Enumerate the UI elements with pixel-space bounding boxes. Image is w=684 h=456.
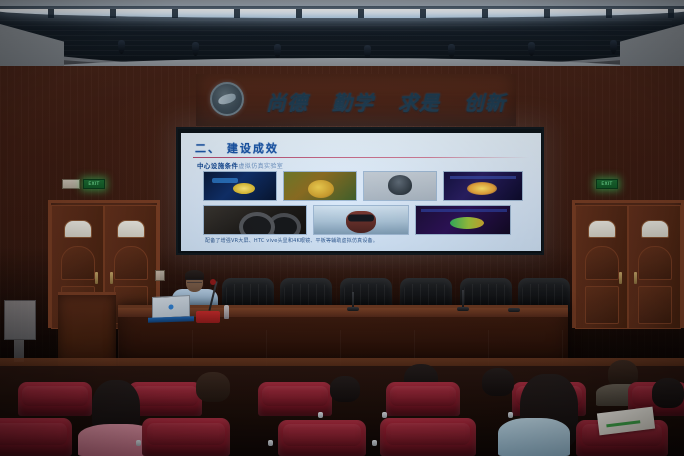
door-panel-upper — [585, 246, 619, 280]
motto-word-2: 勤学 — [332, 87, 374, 116]
ceiling — [0, 0, 684, 72]
slide-subtitle-bold: 中心设施条件 — [197, 162, 238, 170]
door-panel-lower — [585, 286, 619, 324]
door-handle[interactable] — [634, 272, 637, 284]
door-handle[interactable] — [110, 272, 113, 284]
motto-word-1: 尚德 — [266, 87, 308, 116]
seat-armrest-knob — [268, 440, 273, 446]
thumb-simulation-blue — [203, 171, 277, 201]
audience-seat[interactable] — [18, 382, 92, 416]
lectern — [58, 292, 116, 366]
audience-seat[interactable] — [258, 382, 332, 416]
audience-person-head — [330, 376, 360, 402]
exit-sign-left: EXIT — [83, 179, 105, 189]
door-panel-upper — [638, 246, 672, 280]
slide-title: 二、 建设成效 — [195, 140, 279, 156]
thumb-visualization-purple — [415, 205, 511, 235]
audience-seat[interactable] — [278, 420, 366, 456]
door-glass-pane — [641, 220, 669, 238]
water-bottle — [224, 305, 229, 319]
audience-seat[interactable] — [142, 418, 230, 456]
slide-thumbnail-row-1 — [203, 171, 525, 201]
wall-motto-banner: 尚德 勤学 求是 创新 — [196, 74, 516, 126]
door-panel-upper — [61, 246, 95, 280]
slide-caption: 配备了增强VR大屏、HTC vive头显和4K眼镜、平板等辅助虚拟仿真设备。 — [205, 237, 521, 244]
slide-title-rule — [193, 157, 529, 158]
ceiling-light-strip — [0, 9, 684, 18]
thumb-organic-scene — [283, 171, 357, 201]
thumb-vr-headsets-desk — [203, 205, 307, 235]
seat-armrest-knob — [136, 440, 141, 446]
door-handle[interactable] — [95, 272, 98, 284]
projection-screen: 二、 建设成效 中心设施条件虚拟仿真实验室 配备了增强VR大屏、HTC vive… — [176, 127, 544, 255]
slide-subtitle: 中心设施条件虚拟仿真实验室 — [197, 160, 283, 170]
audience-person-head — [652, 378, 684, 408]
seat-armrest-knob — [508, 412, 513, 418]
audience-seat[interactable] — [0, 418, 72, 456]
door-panel-lower — [638, 286, 672, 324]
thumb-person-wearing-vr — [313, 205, 409, 235]
exit-sign-right: EXIT — [596, 179, 618, 189]
audience-person-head — [482, 368, 514, 396]
motto-word-3: 求是 — [398, 87, 440, 116]
door-glass-pane — [64, 220, 92, 238]
table-microphone-stand — [462, 290, 464, 308]
desk-red-folder — [196, 311, 220, 323]
wall-notice-plate — [62, 179, 80, 189]
door-right-leaf-2[interactable] — [628, 205, 681, 329]
table-microphone-base — [508, 308, 520, 312]
motto-text-group: 尚德 勤学 求是 创新 — [260, 78, 512, 124]
audience-seat[interactable] — [380, 418, 476, 456]
audience-person-shoulders — [498, 418, 570, 456]
table-microphone-stand — [352, 292, 354, 308]
presenter-glasses — [187, 279, 202, 283]
audience-seat[interactable] — [386, 382, 460, 416]
exit-sign-left-label: EXIT — [88, 182, 99, 187]
seat-armrest-knob — [318, 412, 323, 418]
door-handle[interactable] — [619, 272, 622, 284]
table-microphone-base — [347, 307, 359, 311]
door-right[interactable] — [572, 200, 684, 328]
slide-title-text: 建设成效 — [227, 142, 279, 155]
presentation-slide: 二、 建设成效 中心设施条件虚拟仿真实验室 配备了增强VR大屏、HTC vive… — [181, 133, 541, 251]
slide-section-number: 二、 — [195, 142, 221, 155]
seat-armrest-knob — [372, 440, 377, 446]
door-panel-upper — [114, 246, 148, 280]
presenter-microphone-head — [210, 279, 216, 285]
laptop-logo-icon — [169, 304, 174, 309]
slide-thumbnail-row-2 — [203, 205, 525, 235]
audience-person-head — [196, 372, 230, 402]
thumb-heatmap-colorful — [443, 171, 523, 201]
motto-word-4: 创新 — [464, 87, 506, 116]
table-microphone-base — [457, 307, 469, 311]
door-right-leaf-1[interactable] — [575, 205, 628, 329]
lecture-hall-scene: 尚德 勤学 求是 创新 二、 建设成效 中心设施条件虚拟仿真实验室 — [0, 0, 684, 456]
school-emblem-icon — [210, 82, 244, 116]
exit-sign-right-label: EXIT — [601, 182, 612, 187]
slide-subtitle-rest: 虚拟仿真实验室 — [238, 163, 283, 170]
seat-armrest-knob — [382, 412, 387, 418]
door-glass-pane — [117, 220, 145, 238]
door-glass-pane — [588, 220, 616, 238]
side-monitor — [4, 300, 36, 340]
presenter-laptop-screen — [152, 295, 190, 319]
light-switch-plate[interactable] — [155, 270, 165, 281]
thumb-vr-headset-gray — [363, 171, 437, 201]
